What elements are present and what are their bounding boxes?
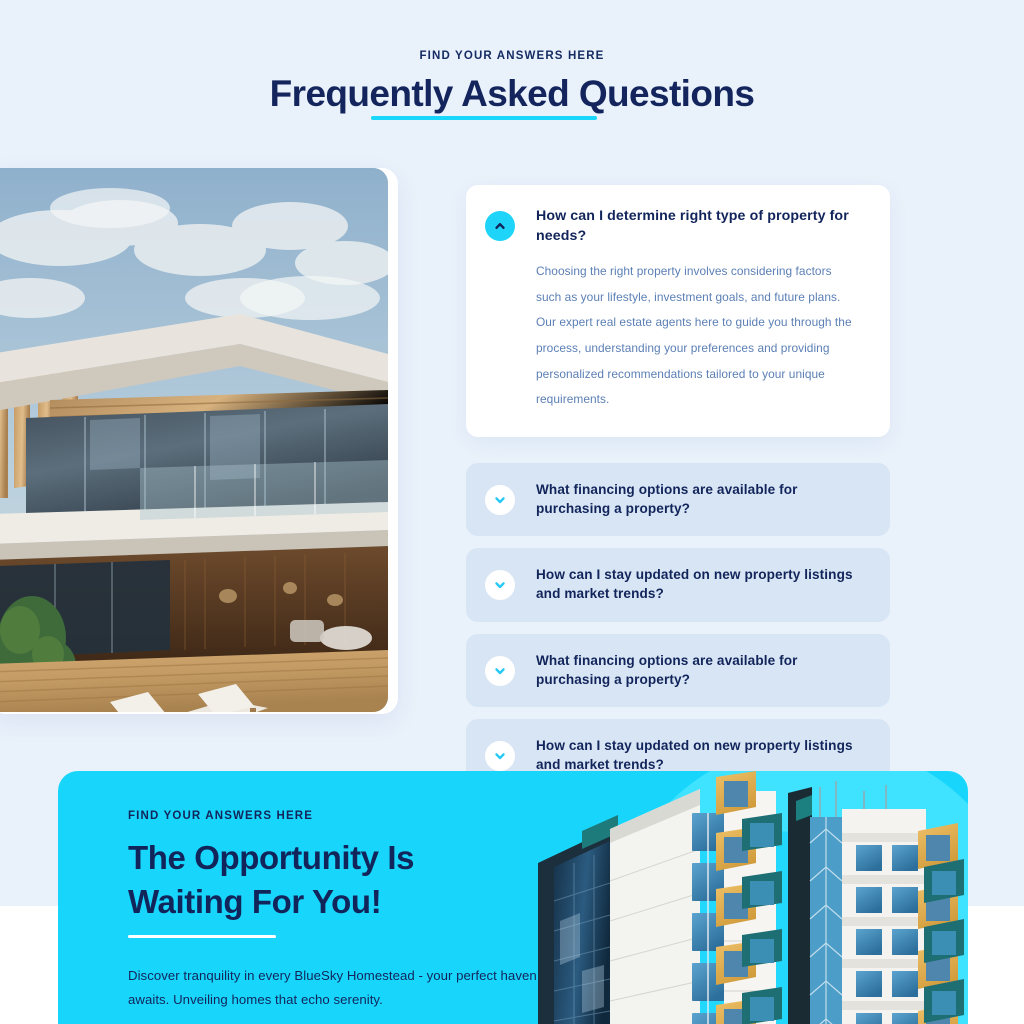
- faq-item[interactable]: What financing options are available for…: [466, 634, 890, 708]
- cta-title-line-2: Waiting For You!: [128, 880, 548, 924]
- faq-item[interactable]: How can I determine right type of proper…: [466, 185, 890, 437]
- cta-title-line-1: The Opportunity Is: [128, 836, 548, 880]
- section-header: FIND YOUR ANSWERS HERE Frequently Asked …: [0, 50, 1024, 116]
- faq-question: How can I stay updated on new property l…: [536, 566, 866, 604]
- chevron-down-icon[interactable]: [485, 570, 515, 600]
- section-eyebrow: FIND YOUR ANSWERS HERE: [0, 50, 1024, 62]
- cta-banner: FIND YOUR ANSWERS HERE The Opportunity I…: [58, 771, 968, 1024]
- apartment-building-image: [520, 771, 968, 1024]
- page-title: Frequently Asked Questions: [270, 73, 755, 116]
- cta-title: The Opportunity Is Waiting For You!: [128, 836, 548, 924]
- faq-item[interactable]: What financing options are available for…: [466, 463, 890, 537]
- villa-photo: [0, 168, 388, 712]
- cta-content: FIND YOUR ANSWERS HERE The Opportunity I…: [128, 810, 548, 1024]
- page-title-text: Frequently Asked Questions: [270, 73, 755, 114]
- faq-question: How can I stay updated on new property l…: [536, 737, 866, 775]
- chevron-down-icon[interactable]: [485, 485, 515, 515]
- cta-title-underline: [128, 935, 276, 938]
- faq-item[interactable]: How can I stay updated on new property l…: [466, 548, 890, 622]
- cta-description: Discover tranquility in every BlueSky Ho…: [128, 964, 548, 1013]
- faq-accordion: How can I determine right type of proper…: [466, 185, 890, 805]
- chevron-up-icon[interactable]: [485, 211, 515, 241]
- faq-question: What financing options are available for…: [536, 481, 866, 519]
- cta-eyebrow: FIND YOUR ANSWERS HERE: [128, 810, 548, 822]
- chevron-down-icon[interactable]: [485, 656, 515, 686]
- title-underline-accent: [371, 116, 597, 120]
- faq-answer: Choosing the right property involves con…: [536, 259, 860, 413]
- chevron-down-icon[interactable]: [485, 741, 515, 771]
- faq-main-area: How can I determine right type of proper…: [0, 168, 1024, 728]
- faq-question: What financing options are available for…: [536, 652, 866, 690]
- faq-question: How can I determine right type of proper…: [536, 207, 860, 246]
- photo-card: [0, 168, 398, 714]
